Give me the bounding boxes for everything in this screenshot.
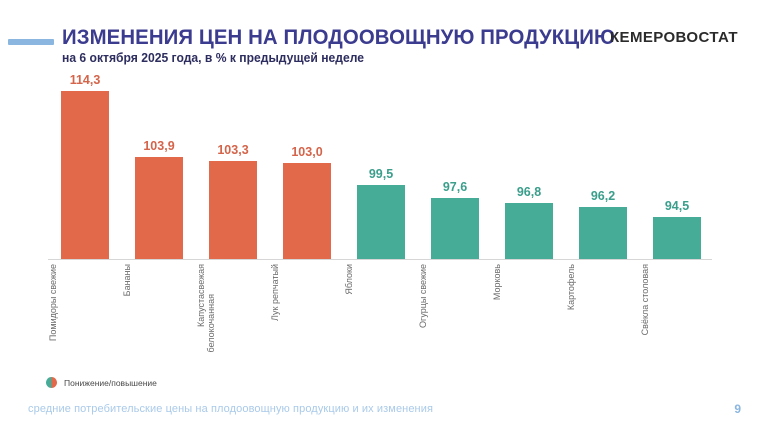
bar-value-label: 94,5	[640, 199, 714, 213]
bar-value-label: 103,3	[196, 143, 270, 157]
bar-group: 103,3	[196, 80, 270, 259]
bar-value-label: 99,5	[344, 167, 418, 181]
category-tick: Бананы	[122, 262, 196, 367]
legend-label: Понижение/повышение	[64, 378, 157, 388]
category-label: Яблоки	[344, 262, 418, 367]
accent-bar-icon	[8, 39, 54, 45]
category-tick: Картофель	[566, 262, 640, 367]
bar	[209, 161, 257, 259]
bar-group: 94,5	[640, 80, 714, 259]
category-tick: Помидоры свежие	[48, 262, 122, 367]
bar-group: 96,2	[566, 80, 640, 259]
category-tick: Яблоки	[344, 262, 418, 367]
bar-group: 96,8	[492, 80, 566, 259]
category-label: Капуста белокочаннаясвежая	[196, 262, 270, 367]
category-label: Картофель	[566, 262, 640, 367]
bar-group: 103,0	[270, 80, 344, 259]
category-tick: Морковь	[492, 262, 566, 367]
bar-value-label: 103,0	[270, 145, 344, 159]
bar-group: 114,3	[48, 80, 122, 259]
category-label: Бананы	[122, 262, 196, 367]
bar-value-label: 97,6	[418, 180, 492, 194]
chart-plot-area: 114,3103,9103,3103,099,597,696,896,294,5	[48, 80, 712, 259]
bar	[135, 157, 183, 259]
bar	[579, 207, 627, 259]
category-label: Свёкла столовая	[640, 262, 714, 367]
bar	[283, 163, 331, 259]
category-tick: Огурцы свежие	[418, 262, 492, 367]
slide-header: ИЗМЕНЕНИЯ ЦЕН НА ПЛОДООВОЩНУЮ ПРОДУКЦИЮ …	[0, 0, 760, 72]
bar-value-label: 96,8	[492, 185, 566, 199]
bar	[61, 91, 109, 259]
page-number: 9	[734, 402, 741, 416]
category-label: Огурцы свежие	[418, 262, 492, 367]
brand-logo: КЕМЕРОВОСТАТ	[610, 29, 738, 46]
page-title: ИЗМЕНЕНИЯ ЦЕН НА ПЛОДООВОЩНУЮ ПРОДУКЦИЮ	[62, 26, 615, 50]
bar-value-label: 103,9	[122, 139, 196, 153]
bar-chart: 114,3103,9103,3103,099,597,696,896,294,5…	[0, 80, 760, 370]
bar	[653, 217, 701, 259]
footer-caption: средние потребительские цены на плодоово…	[28, 403, 433, 415]
category-tick: Свёкла столовая	[640, 262, 714, 367]
bar-group: 99,5	[344, 80, 418, 259]
bar-value-label: 96,2	[566, 189, 640, 203]
bar	[431, 198, 479, 259]
category-tick: Капуста белокочаннаясвежая	[196, 262, 270, 367]
chart-baseline	[48, 259, 712, 260]
category-label: Помидоры свежие	[48, 262, 122, 367]
page-subtitle: на 6 октября 2025 года, в % к предыдущей…	[62, 51, 364, 65]
legend-swatch-icon	[46, 377, 57, 388]
bar-group: 97,6	[418, 80, 492, 259]
category-label: Морковь	[492, 262, 566, 367]
bar-value-label: 114,3	[48, 73, 122, 87]
bar	[505, 203, 553, 259]
bar	[357, 185, 405, 259]
chart-legend: Понижение/повышение	[46, 377, 157, 388]
slide: ИЗМЕНЕНИЯ ЦЕН НА ПЛОДООВОЩНУЮ ПРОДУКЦИЮ …	[0, 0, 760, 428]
bar-group: 103,9	[122, 80, 196, 259]
category-tick: Лук репчатый	[270, 262, 344, 367]
category-label: Лук репчатый	[270, 262, 344, 367]
